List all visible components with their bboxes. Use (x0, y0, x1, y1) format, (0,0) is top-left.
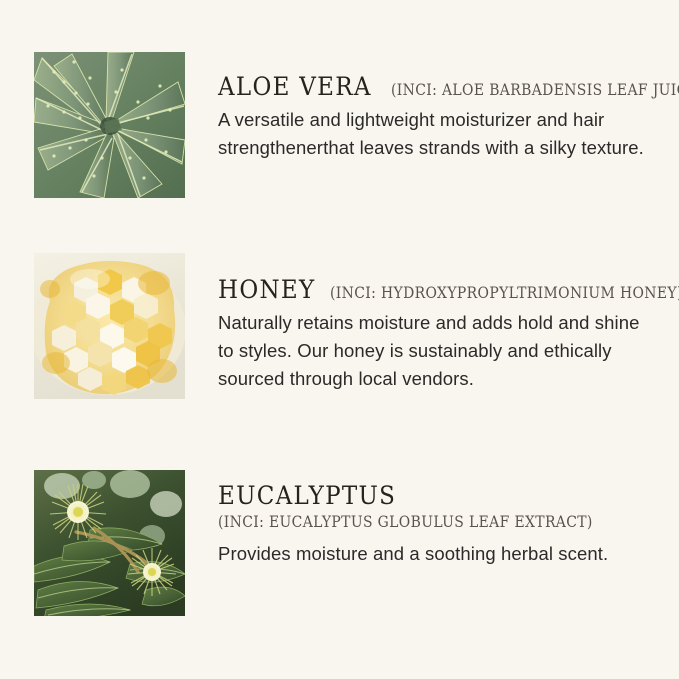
eucalyptus-text: EUCALYPTUS (INCI: EUCALYPTUS GLOBULUS LE… (218, 470, 679, 568)
aloe-vera-heading: ALOE VERA(INCI: ALOE BARBADENSIS LEAF JU… (218, 74, 679, 99)
ingredient-description: Provides moisture and a soothing herbal … (218, 540, 658, 568)
honey-text: HONEY(INCI: HYDROXYPROPYLTRIMONIUM HONEY… (218, 253, 679, 393)
ingredient-row: ALOE VERA(INCI: ALOE BARBADENSIS LEAF JU… (0, 52, 679, 198)
ingredient-name: ALOE VERA (218, 74, 372, 99)
ingredient-inci: (INCI: ALOE BARBADENSIS LEAF JUICE) (391, 83, 679, 99)
honey-heading: HONEY(INCI: HYDROXYPROPYLTRIMONIUM HONEY… (218, 277, 679, 302)
aloe-vera-text: ALOE VERA(INCI: ALOE BARBADENSIS LEAF JU… (218, 52, 679, 162)
ingredient-name: HONEY (218, 277, 315, 302)
eucalyptus-heading: EUCALYPTUS (INCI: EUCALYPTUS GLOBULUS LE… (218, 483, 679, 531)
ingredient-inci: (INCI: EUCALYPTUS GLOBULUS LEAF EXTRACT) (218, 515, 633, 531)
ingredient-row: HONEY(INCI: HYDROXYPROPYLTRIMONIUM HONEY… (0, 253, 679, 399)
ingredient-description: A versatile and lightweight moisturizer … (218, 106, 658, 162)
honey-image (34, 253, 185, 399)
ingredient-inci: (INCI: HYDROXYPROPYLTRIMONIUM HONEY) (330, 286, 679, 302)
aloe-vera-image (34, 52, 185, 198)
eucalyptus-image (34, 470, 185, 616)
ingredient-description: Naturally retains moisture and adds hold… (218, 309, 658, 393)
ingredient-row: EUCALYPTUS (INCI: EUCALYPTUS GLOBULUS LE… (0, 470, 679, 616)
ingredients-panel: ALOE VERA(INCI: ALOE BARBADENSIS LEAF JU… (0, 0, 679, 679)
ingredient-name: EUCALYPTUS (218, 483, 396, 508)
